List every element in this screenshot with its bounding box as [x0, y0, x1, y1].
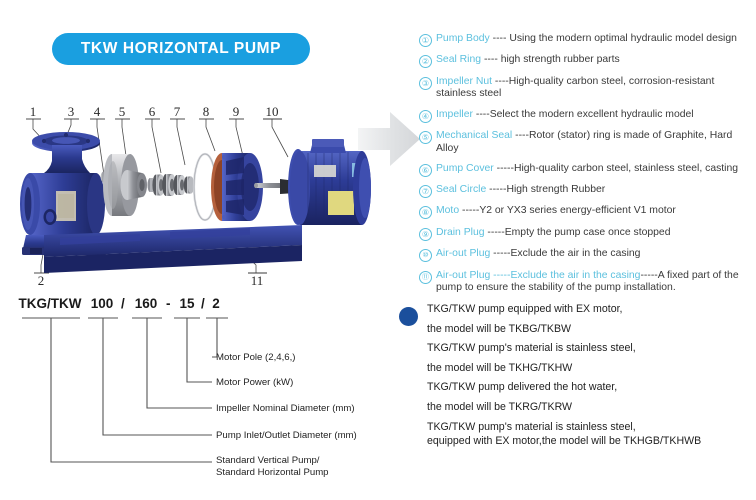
feature-text: Pump Body ---- Using the modern optimal …: [436, 33, 737, 46]
feature-part-name: Impeller: [436, 109, 473, 120]
note-line: the model will be TKHG/TKHW: [427, 362, 749, 374]
feature-dash: -----: [640, 270, 657, 281]
feature-item: ⑨ Drain Plug -----Empty the pump case on…: [419, 227, 754, 241]
model-label-pump-type-line2: Standard Horizontal Pump: [216, 467, 329, 479]
feature-description: Y2 or YX3 series energy-efficient V1 mot…: [479, 205, 676, 216]
feature-text: Air-out Plug -----Exclude the air in the…: [436, 270, 754, 295]
feature-item: ⑧ Moto -----Y2 or YX3 series energy-effi…: [419, 205, 754, 219]
feature-dash: ----: [492, 76, 509, 87]
notes-bullet-icon: [399, 307, 418, 326]
svg-text:10: 10: [266, 104, 279, 119]
feature-item: ② Seal Ring ---- high strength rubber pa…: [419, 54, 754, 68]
feature-part-name: Mechanical Seal: [436, 130, 512, 141]
feature-item: ① Pump Body ---- Using the modern optima…: [419, 33, 754, 47]
exploded-pump-diagram: 1 3 4 5 6 7 8 9 10 2 11: [0, 95, 400, 290]
page-title-banner: TKW HORIZONTAL PUMP: [52, 33, 310, 65]
feature-dash: -----: [494, 163, 514, 174]
svg-text:2: 2: [38, 273, 45, 288]
feature-description: High strength Rubber: [506, 184, 605, 195]
feature-text: Seal Ring ---- high strength rubber part…: [436, 54, 620, 67]
feature-number: ③: [419, 77, 432, 90]
feature-number: ⑤: [419, 131, 432, 144]
feature-dash: ----: [490, 33, 510, 44]
svg-text:11: 11: [251, 273, 264, 288]
note-line: TKG/TKW pump equipped with EX motor,: [427, 303, 749, 315]
svg-text:6: 6: [149, 104, 156, 119]
feature-text: Air-out Plug -----Exclude the air in the…: [436, 248, 640, 261]
feature-part-name: Impeller Nut: [436, 76, 492, 87]
feature-number: ⑨: [419, 228, 432, 241]
feature-description: Exclude the air in the casing: [511, 248, 641, 259]
model-label-motor-pole: Motor Pole (2,4,6,): [216, 352, 295, 364]
notes-lines: TKG/TKW pump equipped with EX motor, the…: [427, 303, 749, 447]
feature-dash: ----: [481, 54, 501, 65]
feature-dash: -----: [486, 184, 506, 195]
pump-datasheet-page: TKW HORIZONTAL PUMP: [0, 0, 756, 500]
feature-item: ③ Impeller Nut ----High-quality carbon s…: [419, 76, 754, 101]
model-label-impeller-diameter: Impeller Nominal Diameter (mm): [216, 403, 355, 415]
feature-number: ⑦: [419, 185, 432, 198]
feature-text: Pump Cover -----High-quality carbon stee…: [436, 163, 738, 176]
feature-number: ④: [419, 110, 432, 123]
note-line: the model will be TKBG/TKBW: [427, 323, 749, 335]
feature-item: ⑥ Pump Cover -----High-quality carbon st…: [419, 163, 754, 177]
feature-text: Drain Plug -----Empty the pump case once…: [436, 227, 671, 240]
svg-text:8: 8: [203, 104, 210, 119]
feature-item: ⑪ Air-out Plug -----Exclude the air in t…: [419, 270, 754, 295]
svg-text:7: 7: [174, 104, 181, 119]
feature-part-name: Air-out Plug: [436, 248, 490, 259]
svg-text:5: 5: [119, 104, 126, 119]
model-variant-notes: TKG/TKW pump equipped with EX motor, the…: [399, 303, 749, 454]
feature-dash: ----: [512, 130, 529, 141]
feature-text: Moto -----Y2 or YX3 series energy-effici…: [436, 205, 676, 218]
page-title: TKW HORIZONTAL PUMP: [81, 40, 281, 58]
feature-part-name: Moto: [436, 205, 459, 216]
feature-description: Using the modern optimal hydraulic model…: [509, 33, 737, 44]
model-label-inlet-outlet-diameter: Pump Inlet/Outlet Diameter (mm): [216, 430, 357, 442]
note-line: TKG/TKW pump delivered the hot water,: [427, 381, 749, 393]
model-leader-lines: [0, 292, 400, 500]
feature-dash: -----: [485, 227, 505, 238]
note-line: equipped with EX motor,the model will be…: [427, 435, 749, 447]
feature-description: High-quality carbon steel, stainless ste…: [514, 163, 738, 174]
feature-item: ⑦ Seal Circle -----High strength Rubber: [419, 184, 754, 198]
feature-part-name: Seal Ring: [436, 54, 481, 65]
feature-description: Empty the pump case once stopped: [505, 227, 671, 238]
model-label-motor-power: Motor Power (kW): [216, 377, 293, 389]
feature-item: ⑤ Mechanical Seal ----Rotor (stator) rin…: [419, 130, 754, 155]
svg-text:9: 9: [233, 104, 240, 119]
feature-number: ⑥: [419, 164, 432, 177]
feature-part-name: Pump Body: [436, 33, 490, 44]
feature-number: ②: [419, 55, 432, 68]
model-code-breakdown: TKG/TKW 100 160 15 2 / - / Motor: [0, 292, 400, 500]
feature-text: Mechanical Seal ----Rotor (stator) ring …: [436, 130, 754, 155]
note-line: TKG/TKW pump's material is stainless ste…: [427, 342, 749, 354]
note-line: TKG/TKW pump's material is stainless ste…: [427, 421, 749, 433]
feature-description: high strength rubber parts: [501, 54, 620, 65]
feature-dash: -----: [459, 205, 479, 216]
feature-list: ① Pump Body ---- Using the modern optima…: [419, 33, 754, 302]
feature-text: Impeller ----Select the modern excellent…: [436, 109, 694, 122]
feature-text: Impeller Nut ----High-quality carbon ste…: [436, 76, 754, 101]
feature-number: ①: [419, 34, 432, 47]
model-label-pump-type-line1: Standard Vertical Pump/: [216, 455, 319, 467]
feature-part-name: Drain Plug: [436, 227, 485, 238]
svg-text:4: 4: [94, 104, 101, 119]
feature-part-name: Seal Circle: [436, 184, 486, 195]
feature-description: Select the modern excellent hydraulic mo…: [490, 109, 694, 120]
feature-number: ⑩: [419, 249, 432, 262]
feature-part-name: Air-out Plug -----Exclude the air in the…: [436, 270, 640, 281]
svg-text:1: 1: [30, 104, 37, 119]
feature-item: ⑩ Air-out Plug -----Exclude the air in t…: [419, 248, 754, 262]
feature-number: ⑧: [419, 206, 432, 219]
feature-dash: ----: [473, 109, 490, 120]
feature-dash: -----: [490, 248, 510, 259]
note-line: the model will be TKRG/TKRW: [427, 401, 749, 413]
flow-arrow: [356, 108, 422, 170]
feature-part-name: Pump Cover: [436, 163, 494, 174]
feature-number: ⑪: [419, 271, 432, 284]
feature-item: ④ Impeller ----Select the modern excelle…: [419, 109, 754, 123]
svg-text:3: 3: [68, 104, 75, 119]
feature-text: Seal Circle -----High strength Rubber: [436, 184, 605, 197]
